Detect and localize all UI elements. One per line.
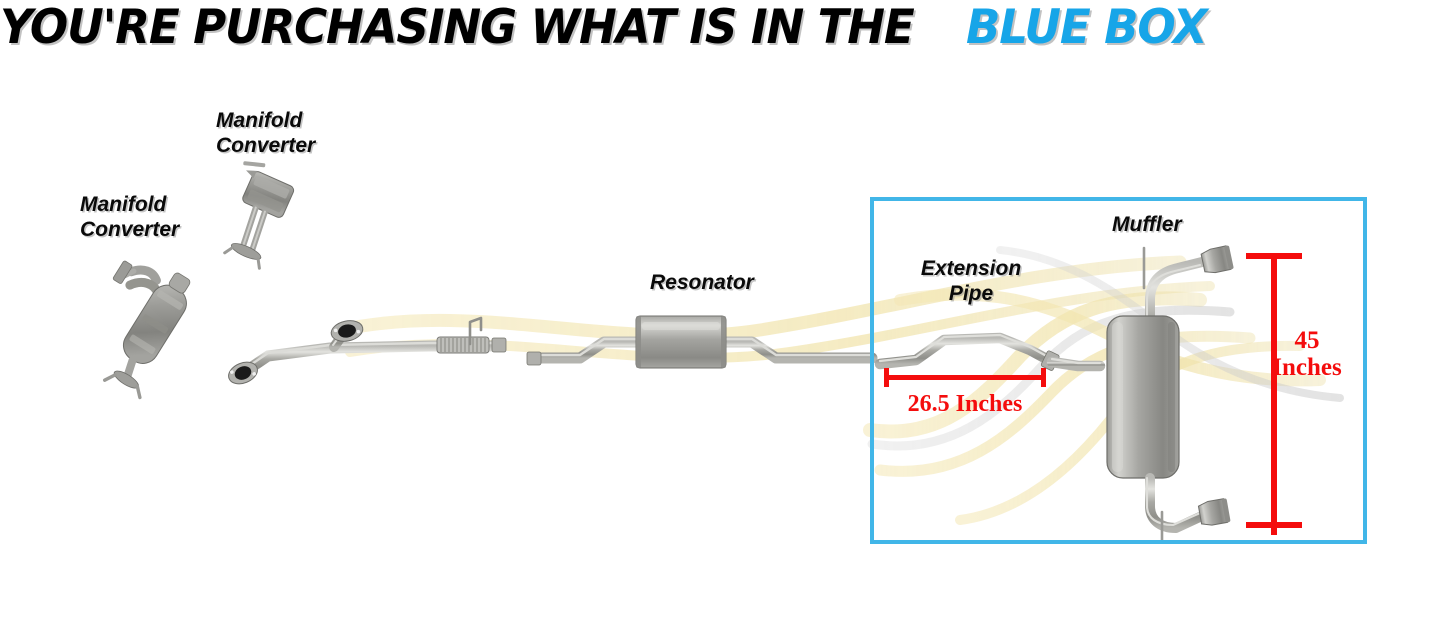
dimension-length-bar [884,375,1046,380]
flex-pipe-section [437,337,489,353]
label-extension-pipe-line2: Pipe [898,281,1044,306]
dimension-length-cap-left [884,368,889,387]
banner-text-black: YOU'RE PURCHASING WHAT IS IN THE [0,3,914,53]
dimension-length-cap-right [1041,368,1046,387]
label-manifold-converter-lower-line1: Manifold [80,192,179,217]
dimension-height-label: 45 Inches [1248,328,1366,381]
label-manifold-converter-upper-line1: Manifold [216,108,315,133]
dimension-height-bar [1271,253,1277,535]
diagram-canvas: YOU'RE PURCHASING WHAT IS IN THE BLUE BO… [0,0,1445,619]
label-manifold-converter-upper-line2: Converter [216,133,315,158]
manifold-converter-upper-part [206,155,299,268]
header-banner: YOU'RE PURCHASING WHAT IS IN THE BLUE BO… [0,0,1445,56]
label-manifold-converter-upper: Manifold Converter [216,108,315,158]
banner-text-blue: BLUE BOX [966,3,1207,53]
manifold-converter-lower-part [65,245,207,401]
dimension-length-label: 26.5 Inches [884,392,1046,417]
label-resonator: Resonator [650,270,754,295]
dimension-height-cap-top [1246,253,1302,259]
label-manifold-converter-lower-line2: Converter [80,217,179,242]
front-y-pipe-part [225,318,506,388]
label-manifold-converter-lower: Manifold Converter [80,192,179,242]
dimension-height-label-line2: Inches [1248,355,1366,382]
dimension-height-label-line1: 45 [1248,328,1366,355]
label-extension-pipe-line1: Extension [898,256,1044,281]
label-extension-pipe: Extension Pipe [898,256,1044,306]
label-muffler: Muffler [1112,212,1182,237]
dimension-height-cap-bottom [1246,522,1302,528]
resonator-part [527,316,872,368]
